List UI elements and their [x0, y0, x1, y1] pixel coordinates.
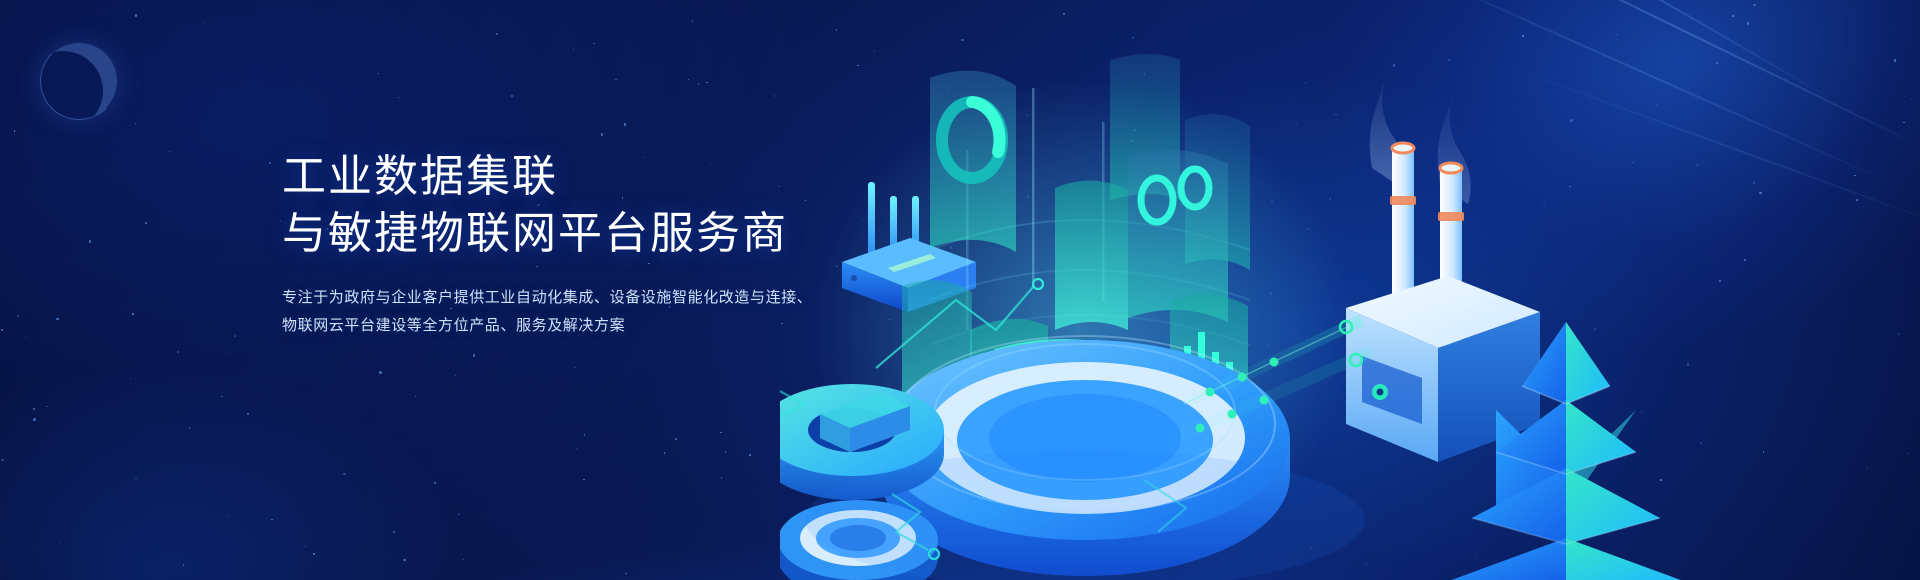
star: [234, 335, 236, 337]
star: [204, 23, 206, 25]
subtitle-line1: 专注于为政府与企业客户提供工业自动化集成、设备设施智能化改造与连接、: [282, 284, 842, 312]
star: [56, 318, 59, 321]
star: [574, 367, 576, 369]
star: [177, 351, 180, 354]
star: [774, 95, 776, 97]
star: [1, 329, 3, 331]
page-title-line1: 工业数据集联: [282, 148, 842, 205]
star: [511, 95, 513, 97]
subtitle-line2: 物联网云平台建设等全方位产品、服务及解决方案: [282, 312, 842, 340]
star: [132, 313, 134, 315]
star: [624, 123, 627, 126]
star: [25, 337, 27, 339]
star: [615, 79, 617, 81]
star: [698, 83, 700, 85]
factory-smokestacks: [1346, 70, 1540, 462]
star: [14, 130, 16, 132]
isometric-iot-illustration: [780, 0, 1920, 580]
star: [226, 351, 228, 353]
star: [377, 73, 379, 75]
star: [692, 20, 694, 22]
star: [135, 14, 138, 17]
star: [145, 222, 147, 224]
star: [688, 79, 690, 81]
star: [413, 9, 415, 11]
star: [135, 123, 137, 125]
star: [269, 162, 271, 164]
crescent-moon-icon: [40, 42, 118, 120]
star: [17, 315, 19, 317]
star: [706, 82, 708, 84]
star: [573, 49, 575, 51]
page-title-line2: 与敏捷物联网平台服务商: [282, 205, 842, 262]
star: [398, 97, 400, 99]
star: [169, 151, 171, 153]
star: [89, 240, 92, 243]
hero-copy: 工业数据集联 与敏捷物联网平台服务商 专注于为政府与企业客户提供工业自动化集成、…: [282, 148, 842, 340]
hero-banner: 工业数据集联 与敏捷物联网平台服务商 专注于为政府与企业客户提供工业自动化集成、…: [0, 0, 1920, 580]
star: [496, 33, 498, 35]
star: [138, 85, 140, 87]
star: [593, 43, 595, 45]
star: [725, 67, 727, 69]
star: [473, 354, 476, 357]
star: [601, 133, 604, 136]
